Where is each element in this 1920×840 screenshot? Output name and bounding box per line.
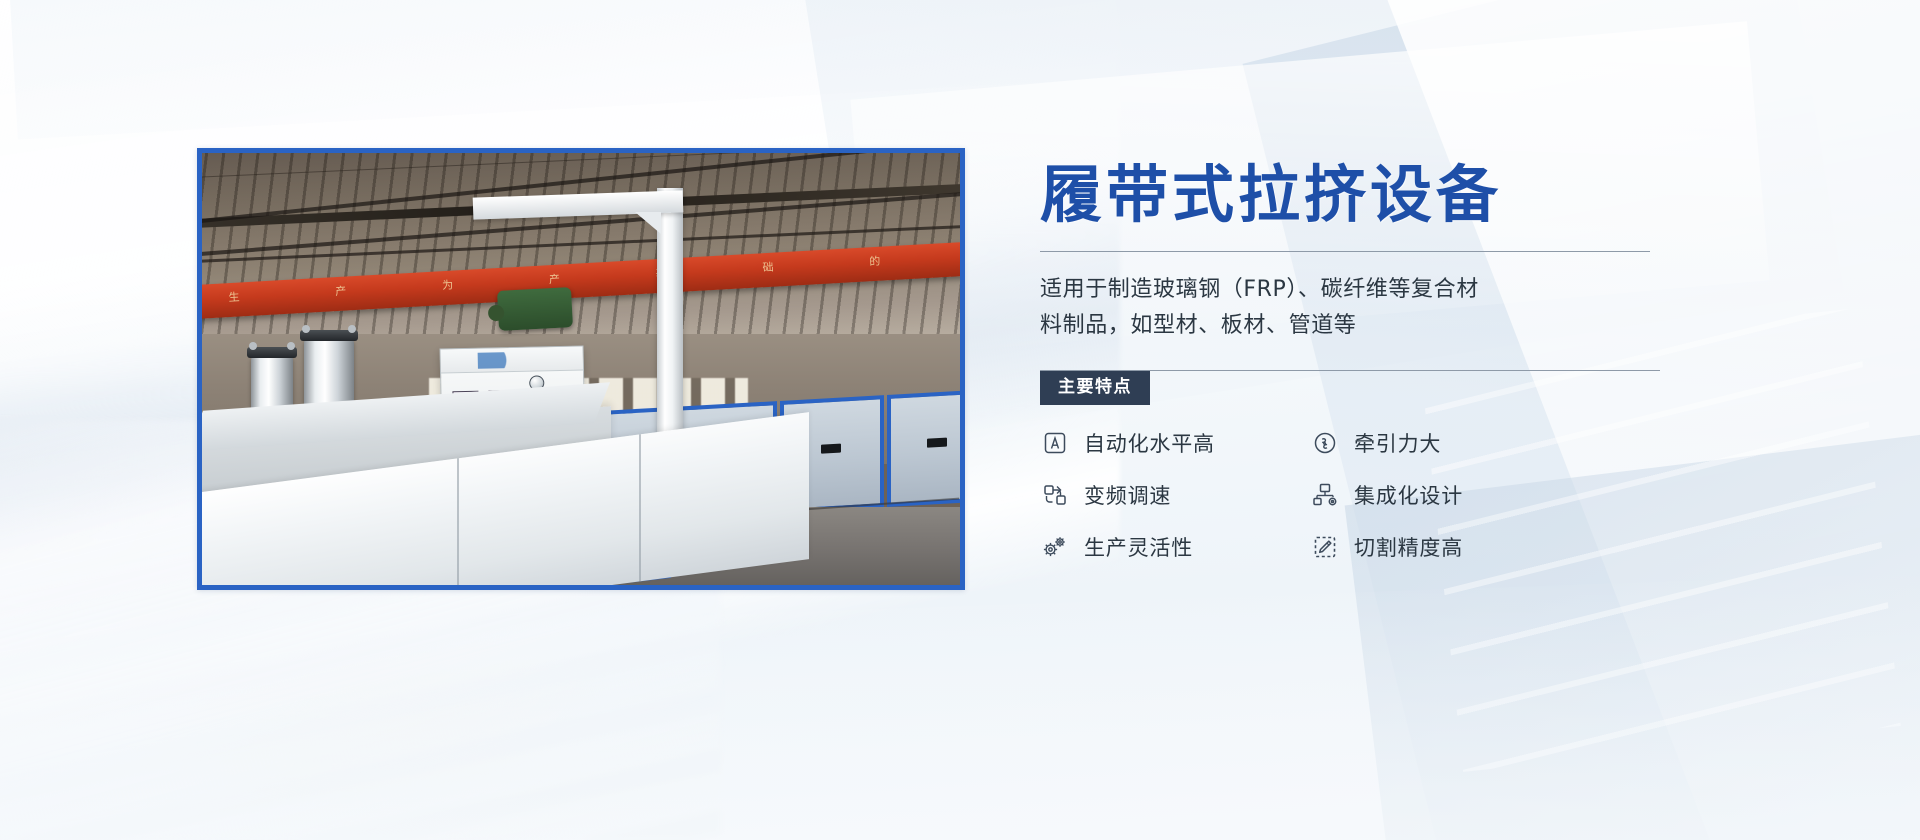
page-title: 履带式拉挤设备 [1040,160,1660,229]
crane-char: 生 [228,289,242,306]
features-badge-row: 主要特点 [1040,370,1660,406]
feature-label: 生产灵活性 [1084,532,1193,562]
product-photo: 生 产 为 产 基 础 的 [202,153,960,585]
feature-item-frequency[interactable]: 变频调速 [1040,480,1310,510]
pen-in-dashed-box-icon [1310,532,1340,562]
feature-item-automation[interactable]: 自动化水平高 [1040,428,1310,458]
feature-label: 牵引力大 [1354,428,1441,458]
crane-char: 产 [335,283,349,300]
feature-item-cut-precision[interactable]: 切割精度高 [1310,532,1580,562]
crane-char: 为 [442,277,456,294]
letter-a-in-rounded-square-icon [1040,428,1070,458]
features-badge: 主要特点 [1040,371,1150,405]
feature-item-traction[interactable]: 牵引力大 [1310,428,1580,458]
description-line-2: 料制品，如型材、板材、管道等 [1040,308,1640,344]
feature-label: 自动化水平高 [1084,428,1215,458]
product-photo-card[interactable]: 生 产 为 产 基 础 的 [197,148,965,590]
crane-char: 产 [549,271,563,288]
traction-force-circle-icon [1310,428,1340,458]
crane-char: 础 [762,259,776,276]
feature-item-integrated-design[interactable]: 集成化设计 [1310,480,1580,510]
feature-item-flexibility[interactable]: 生产灵活性 [1040,532,1310,562]
photo-panel-logo [477,352,545,369]
integrated-design-node-icon [1310,480,1340,510]
photo-green-hoist [497,287,573,331]
photo-cabinet [887,389,960,507]
feature-label: 集成化设计 [1354,480,1463,510]
feature-list: 自动化水平高 牵引力大 [1040,428,1660,562]
frequency-adjust-icon [1040,480,1070,510]
title-divider [1040,251,1650,252]
banner-content: 履带式拉挤设备 适用于制造玻璃钢（FRP）、碳纤维等复合材 料制品，如型材、板材… [1040,160,1660,562]
feature-label: 切割精度高 [1354,532,1463,562]
feature-label: 变频调速 [1084,480,1171,510]
product-banner: 生 产 为 产 基 础 的 [0,0,1920,840]
product-description: 适用于制造玻璃钢（FRP）、碳纤维等复合材 料制品，如型材、板材、管道等 [1040,272,1640,343]
crane-char: 的 [869,253,883,270]
description-line-1: 适用于制造玻璃钢（FRP）、碳纤维等复合材 [1040,272,1640,308]
gears-icon [1040,532,1070,562]
